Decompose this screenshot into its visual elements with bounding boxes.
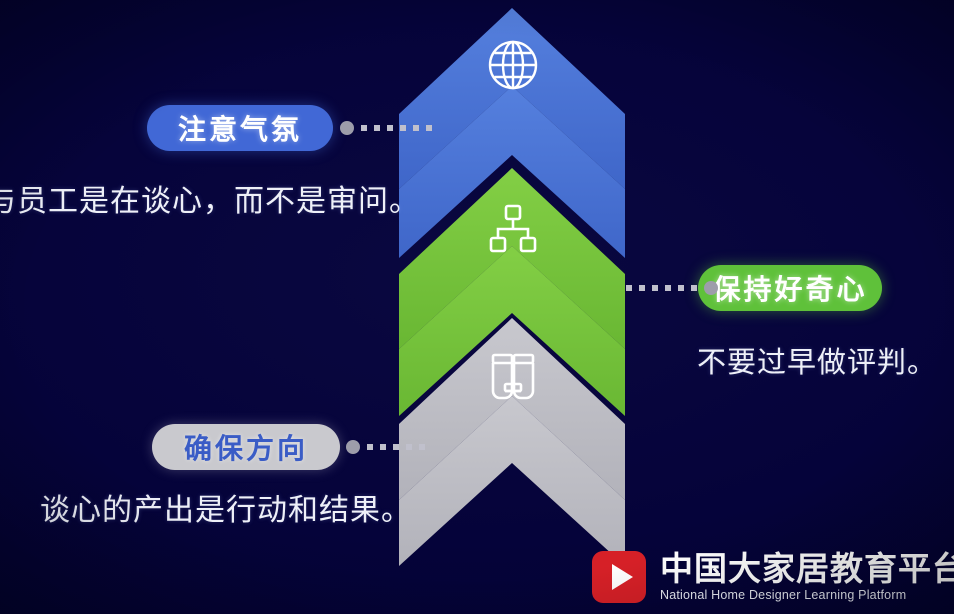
play-triangle-icon bbox=[612, 564, 633, 590]
connector-curiosity bbox=[626, 280, 718, 296]
connector-direction bbox=[346, 439, 425, 455]
connector-atmosphere bbox=[340, 120, 432, 136]
connector-node-icon bbox=[346, 440, 360, 454]
connector-node-icon bbox=[704, 281, 718, 295]
brand-title-cn: 中国大家居教育平台 bbox=[660, 552, 954, 586]
binoculars-icon bbox=[489, 351, 537, 403]
brand-logo: 中国大家居教育平台 National Home Designer Learnin… bbox=[592, 551, 954, 603]
connector-dots bbox=[626, 285, 704, 291]
chevron-shape-curiosity bbox=[399, 168, 625, 349]
step-pill-direction[interactable]: 确保方向 bbox=[152, 424, 340, 470]
step-caption-atmosphere: 与员工是在谈心，而不是审问。 bbox=[0, 176, 420, 220]
play-button-icon bbox=[592, 551, 646, 603]
step-caption-curiosity: 不要过早做评判。 bbox=[697, 339, 937, 381]
chevron-shape-atmosphere bbox=[399, 8, 625, 189]
step-pill-atmosphere[interactable]: 注意气氛 bbox=[147, 105, 333, 151]
slide-canvas: 注意气氛 与员工是在谈心，而不是审问。 保持好奇心 不要过早做评判。 确保方向 … bbox=[0, 0, 954, 614]
org-chart-icon bbox=[489, 204, 537, 254]
chevron-shape-direction bbox=[399, 318, 625, 500]
brand-text: 中国大家居教育平台 National Home Designer Learnin… bbox=[660, 552, 954, 602]
chevron-tail-curiosity bbox=[399, 246, 625, 416]
globe-icon bbox=[485, 37, 541, 93]
step-caption-direction: 谈心的产出是行动和结果。 bbox=[40, 485, 412, 529]
connector-node-icon bbox=[340, 121, 354, 135]
step-pill-curiosity[interactable]: 保持好奇心 bbox=[698, 265, 882, 311]
brand-subtitle-en: National Home Designer Learning Platform bbox=[660, 588, 954, 602]
chevron-tail-direction bbox=[399, 396, 625, 566]
connector-dots bbox=[360, 444, 425, 450]
chevron-tail-atmosphere bbox=[399, 86, 625, 258]
connector-dots bbox=[354, 125, 432, 131]
